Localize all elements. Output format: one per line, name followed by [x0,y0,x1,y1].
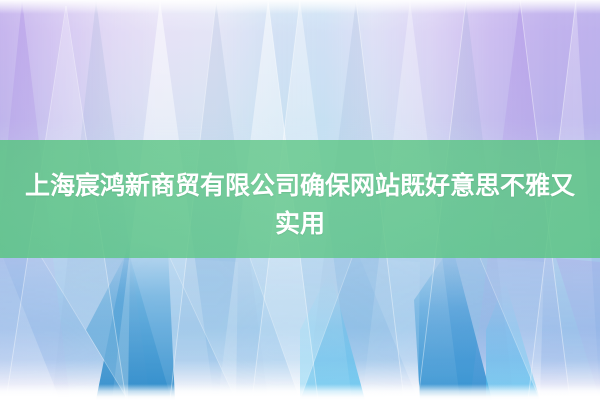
headline-line-2: 实用 [0,205,600,243]
headline-text: 上海宸鸿新商贸有限公司确保网站既好意思不雅又 实用 [0,167,600,243]
headline-line-1: 上海宸鸿新商贸有限公司确保网站既好意思不雅又 [0,167,600,205]
top-white-haze [0,0,600,14]
bottom-white-fade [0,384,600,400]
promo-banner: 上海宸鸿新商贸有限公司确保网站既好意思不雅又 实用 [0,0,600,400]
